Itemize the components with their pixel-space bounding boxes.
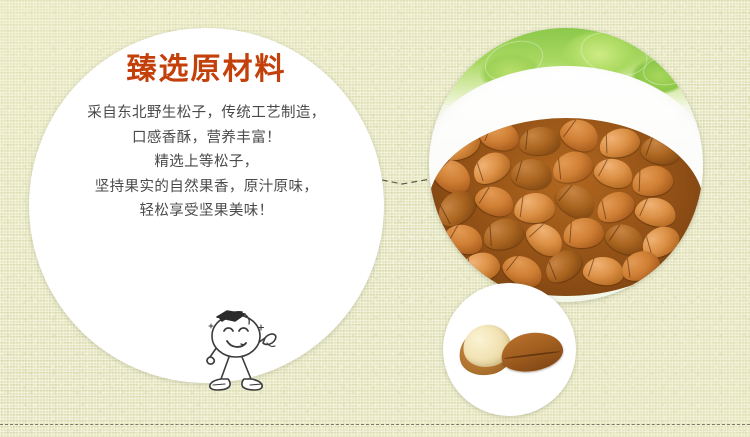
bowl-interior <box>429 118 703 296</box>
page-title: 臻选原材料 <box>127 55 287 85</box>
description-line: 轻松享受坚果美味！ <box>29 199 384 224</box>
description-line: 坚持果实的自然果香，原汁原味， <box>29 175 384 200</box>
bottom-divider <box>0 424 750 425</box>
whole-shell <box>498 328 566 376</box>
product-detail-banner: 臻选原材料 采自东北野生松子，传统工艺制造， 口感香酥，营养丰富！ 精选上等松子… <box>0 0 750 437</box>
white-bowl <box>429 66 703 296</box>
description-line: 采自东北野生松子，传统工艺制造， <box>29 101 384 126</box>
pine-nut-kernel-photo <box>443 283 576 416</box>
graduate-mascot-icon <box>187 305 287 400</box>
description-line: 精选上等松子， <box>29 150 384 175</box>
description-block: 采自东北野生松子，传统工艺制造， 口感香酥，营养丰富！ 精选上等松子， 坚持果实… <box>29 101 384 224</box>
description-line: 口感香酥，营养丰富！ <box>29 126 384 151</box>
pine-nuts-bowl-photo <box>429 28 703 302</box>
content-circle: 臻选原材料 采自东北野生松子，传统工艺制造， 口感香酥，营养丰富！ 精选上等松子… <box>29 28 384 383</box>
